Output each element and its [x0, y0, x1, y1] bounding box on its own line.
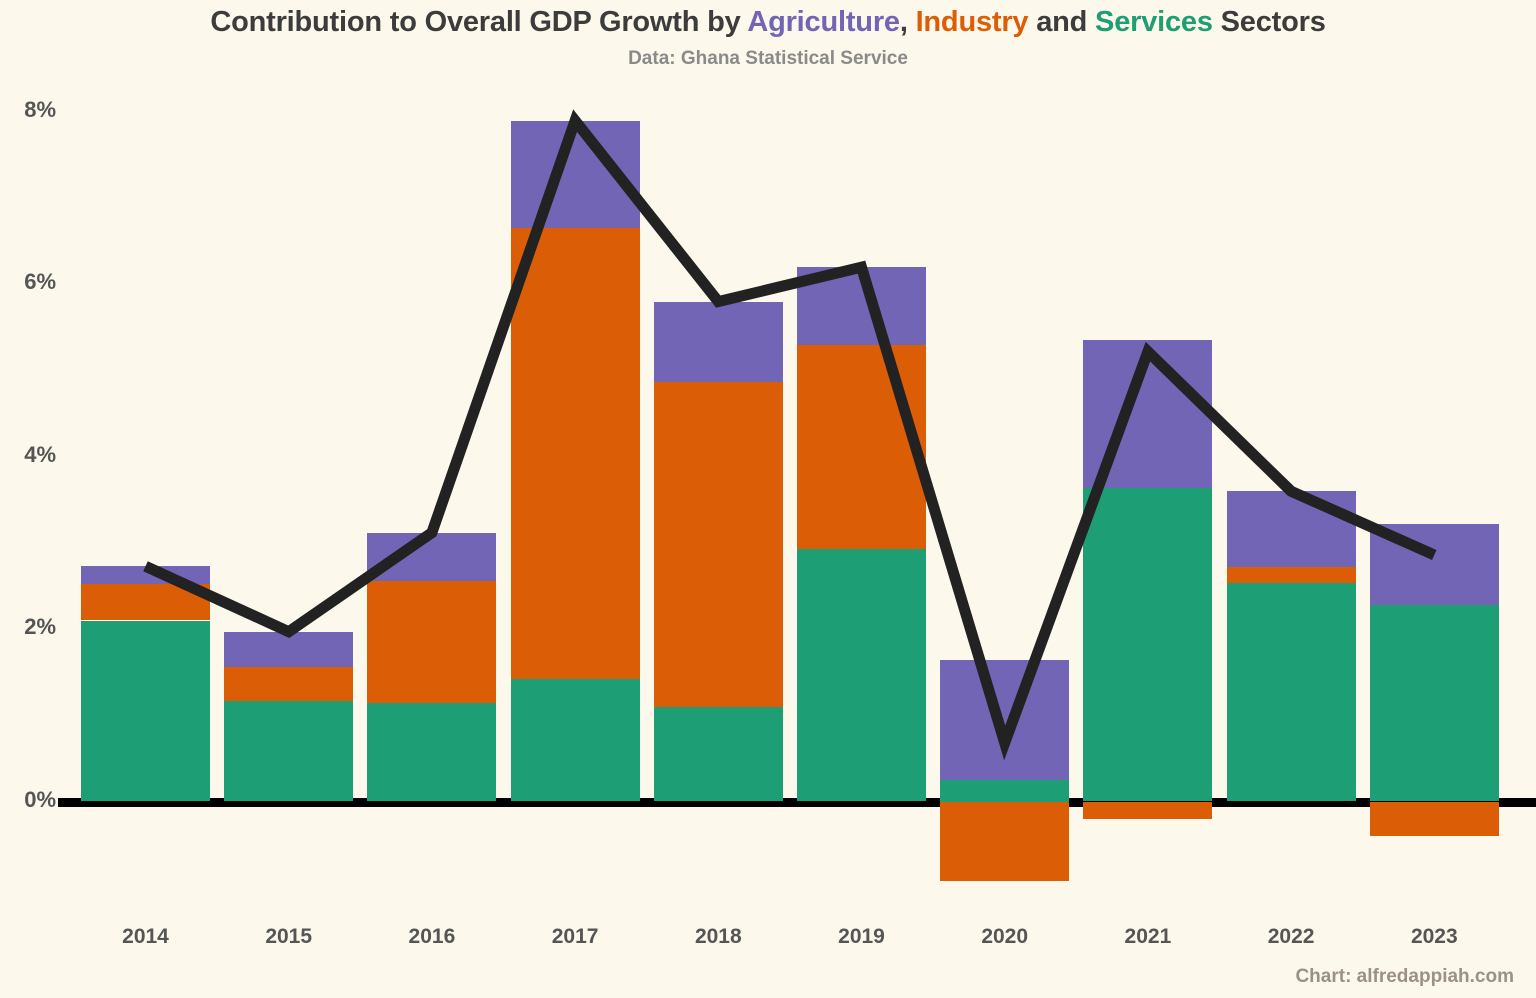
y-axis-tick-label: 4%	[24, 442, 56, 468]
bar-segment-services	[940, 780, 1069, 802]
bar-segment-services	[81, 621, 210, 802]
bar-segment-agriculture	[1083, 340, 1212, 487]
bar-segment-agriculture	[81, 566, 210, 584]
bar-segment-services	[1083, 488, 1212, 802]
plot-area: 0%2%4%6%8%201420152016201720182019202020…	[0, 0, 1536, 998]
y-axis-tick-label: 8%	[24, 97, 56, 123]
bar-segment-industry	[367, 581, 496, 703]
bar-segment-agriculture	[1370, 524, 1499, 605]
bar-segment-agriculture	[224, 632, 353, 667]
bar-segment-agriculture	[1227, 491, 1356, 567]
bar-segment-services	[654, 707, 783, 802]
bar-segment-industry	[224, 667, 353, 701]
y-axis-tick-label: 0%	[24, 787, 56, 813]
y-axis-tick-label: 2%	[24, 614, 56, 640]
chart-credit: Chart: alfredappiah.com	[1295, 966, 1514, 988]
bar-segment-agriculture	[367, 533, 496, 581]
bar-segment-services	[511, 679, 640, 801]
bar-segment-industry	[797, 345, 926, 549]
x-axis-tick-label: 2021	[1125, 925, 1172, 949]
bar-segment-services	[224, 701, 353, 802]
x-axis-tick-label: 2017	[552, 925, 599, 949]
bar-segment-industry	[511, 228, 640, 679]
x-axis-tick-label: 2015	[265, 925, 312, 949]
x-axis-tick-label: 2018	[695, 925, 742, 949]
x-axis-tick-label: 2019	[838, 925, 885, 949]
bar-segment-industry	[654, 382, 783, 707]
bar-segment-services	[367, 703, 496, 801]
bar-segment-industry	[1227, 567, 1356, 583]
bar-segment-industry	[81, 584, 210, 620]
bar-segment-agriculture	[797, 267, 926, 345]
bar-segment-industry	[940, 802, 1069, 881]
y-axis-tick-label: 6%	[24, 269, 56, 295]
bar-segment-agriculture	[511, 121, 640, 229]
bar-segment-services	[1227, 583, 1356, 802]
bar-segment-agriculture	[940, 660, 1069, 780]
x-axis-tick-label: 2020	[981, 925, 1028, 949]
bar-segment-services	[1370, 605, 1499, 802]
bar-segment-services	[797, 549, 926, 802]
gdp-growth-chart: Contribution to Overall GDP Growth by Ag…	[0, 0, 1536, 998]
x-axis-tick-label: 2022	[1268, 925, 1315, 949]
x-axis-tick-label: 2014	[122, 925, 169, 949]
x-axis-tick-label: 2023	[1411, 925, 1458, 949]
bar-segment-industry	[1083, 802, 1212, 819]
bar-segment-industry	[1370, 802, 1499, 836]
x-axis-tick-label: 2016	[409, 925, 456, 949]
bar-segment-agriculture	[654, 302, 783, 382]
